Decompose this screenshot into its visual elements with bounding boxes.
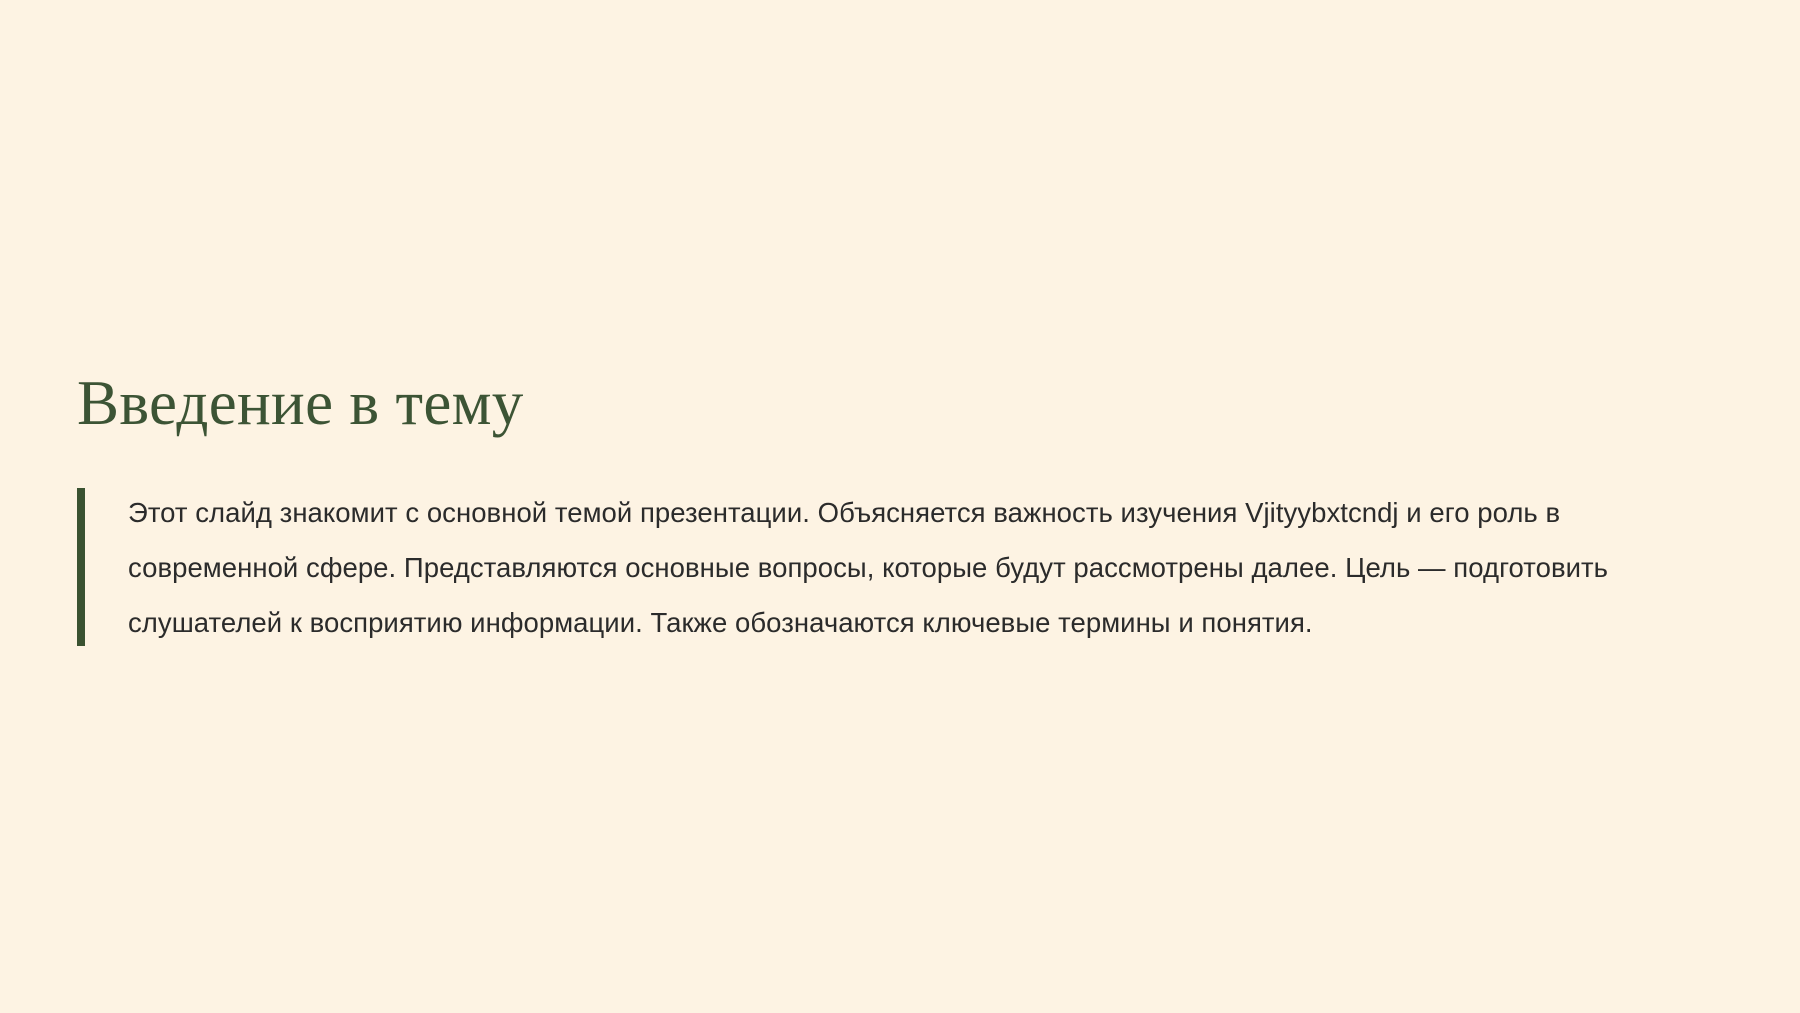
slide-title: Введение в тему <box>77 372 1717 435</box>
slide-body-text: Этот слайд знакомит с основной темой пре… <box>128 485 1713 650</box>
slide-body-block: Этот слайд знакомит с основной темой пре… <box>77 485 1717 650</box>
slide-canvas: Введение в тему Этот слайд знакомит с ос… <box>0 0 1800 1013</box>
accent-bar <box>77 488 85 646</box>
slide-content: Введение в тему Этот слайд знакомит с ос… <box>77 372 1717 650</box>
